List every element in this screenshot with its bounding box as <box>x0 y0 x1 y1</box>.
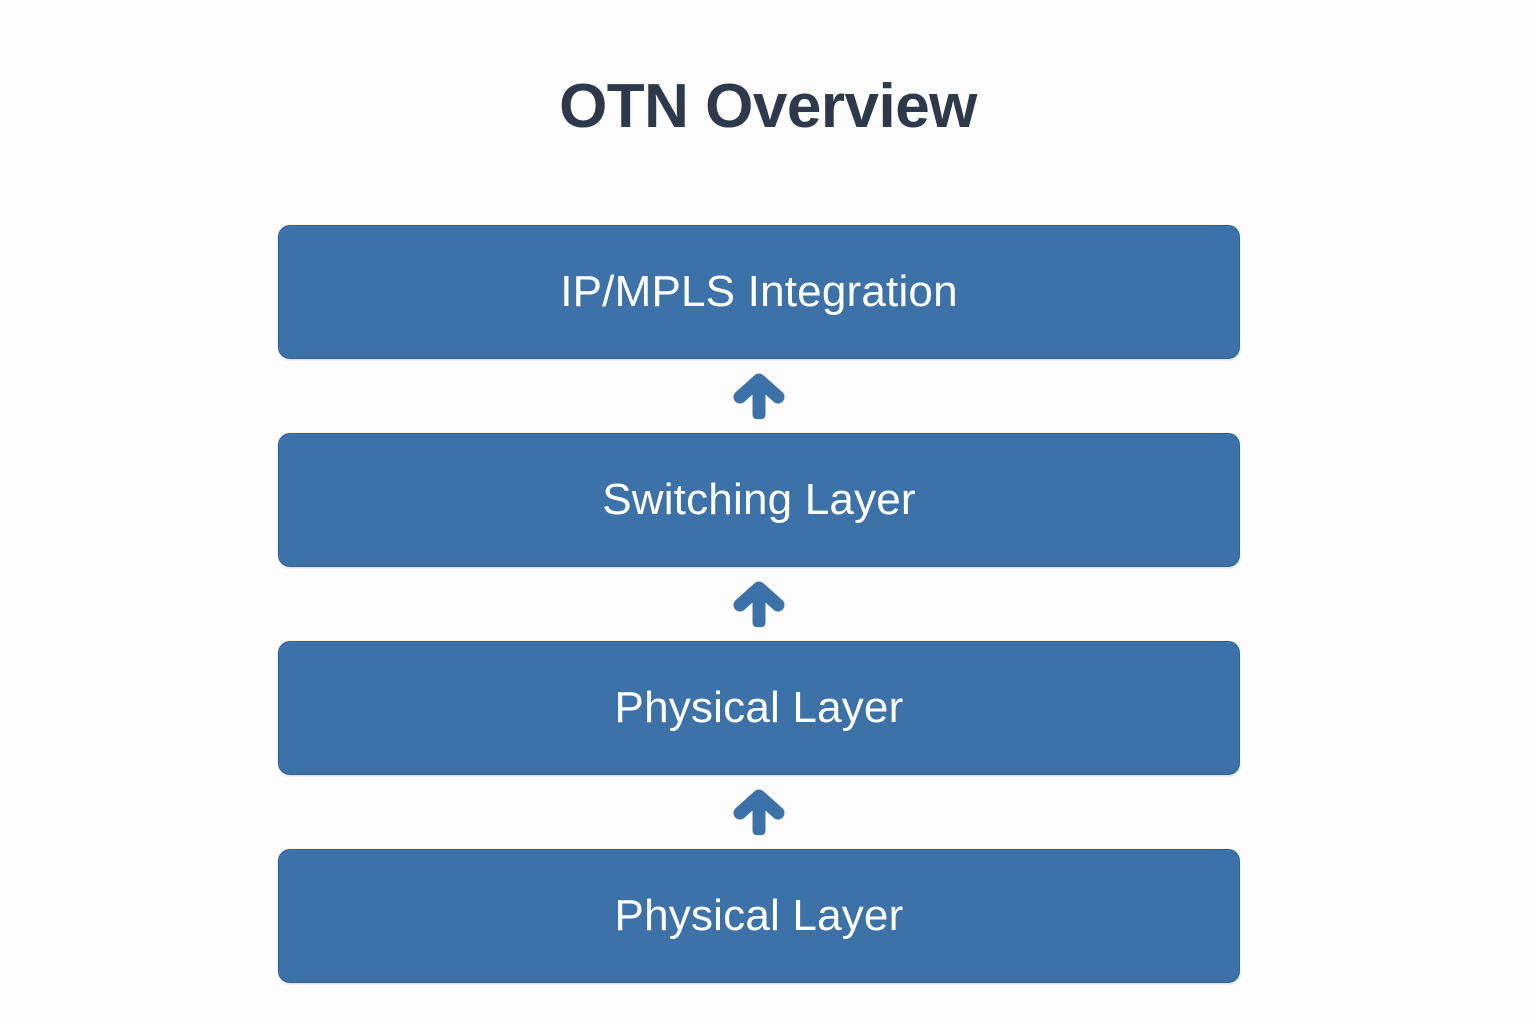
layer-box-label: Switching Layer <box>602 478 916 522</box>
arrow-up-icon <box>732 373 786 419</box>
layer-box-ip-mpls-integration[interactable]: IP/MPLS Integration <box>278 225 1240 359</box>
layer-box-label: Physical Layer <box>615 686 904 730</box>
layer-box-physical-layer-lower[interactable]: Physical Layer <box>278 849 1240 983</box>
layer-row: Physical Layer <box>278 849 1240 983</box>
connector-1 <box>278 359 1240 433</box>
layer-row: Physical Layer <box>278 641 1240 775</box>
layer-box-label: IP/MPLS Integration <box>560 270 958 314</box>
diagram-canvas: OTN Overview IP/MPLS Integration Switchi… <box>0 0 1536 1024</box>
layer-stack: IP/MPLS Integration Switching Layer <box>278 225 1240 983</box>
layer-box-switching-layer[interactable]: Switching Layer <box>278 433 1240 567</box>
arrow-up-icon <box>732 789 786 835</box>
arrow-up-icon <box>732 581 786 627</box>
layer-row: Switching Layer <box>278 433 1240 567</box>
layer-box-label: Physical Layer <box>615 894 904 938</box>
connector-2 <box>278 567 1240 641</box>
connector-3 <box>278 775 1240 849</box>
layer-box-physical-layer-upper[interactable]: Physical Layer <box>278 641 1240 775</box>
page-title: OTN Overview <box>0 74 1536 139</box>
layer-row: IP/MPLS Integration <box>278 225 1240 359</box>
